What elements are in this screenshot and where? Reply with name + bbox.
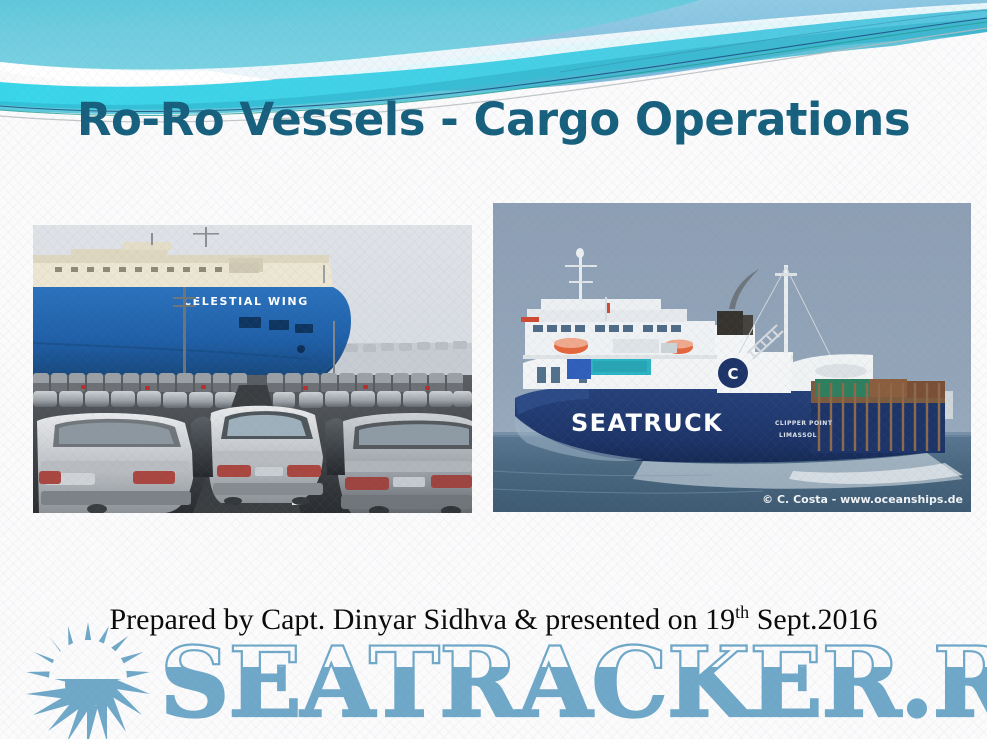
presentation-slide: Ro-Ro Vessels - Cargo Operations: [0, 0, 987, 739]
vessel-name-celestial-wing: CELESTIAL WING: [183, 295, 309, 308]
presenter-credit-prefix: Prepared by Capt. Dinyar Sidhva & presen…: [109, 603, 735, 636]
svg-text:SEATRACKER.RU: SEATRACKER.RU: [160, 626, 987, 739]
foreground-car-left: [37, 413, 195, 513]
photo-credit: © C. Costa - www.oceanships.de: [762, 493, 963, 506]
vessel-name-seatruck: SEATRUCK: [571, 409, 723, 437]
presenter-credit-line: Prepared by Capt. Dinyar Sidhva & presen…: [0, 603, 987, 637]
car-carrier-photo: CELESTIAL WING: [33, 225, 472, 513]
vessel-name-clipper-point: CLIPPER POINT: [775, 420, 833, 427]
foreground-car-center: [208, 406, 323, 505]
svg-text:SEATRACKER.RU: SEATRACKER.RU: [160, 626, 987, 739]
port-of-registry: LIMASSOL: [779, 432, 817, 439]
sun-burst-logo: [26, 622, 150, 739]
funnel-logo-letter: C: [727, 365, 738, 383]
foreground-car-right: [337, 413, 472, 513]
slide-title: Ro-Ro Vessels - Cargo Operations: [0, 93, 987, 146]
roro-ferry-photo: C: [493, 203, 971, 512]
date-ordinal-suffix: th: [735, 602, 749, 622]
presenter-credit-suffix: Sept.2016: [749, 603, 877, 636]
watermark-text: SEATRACKER.RU SEATRACKER.RU: [160, 626, 987, 739]
